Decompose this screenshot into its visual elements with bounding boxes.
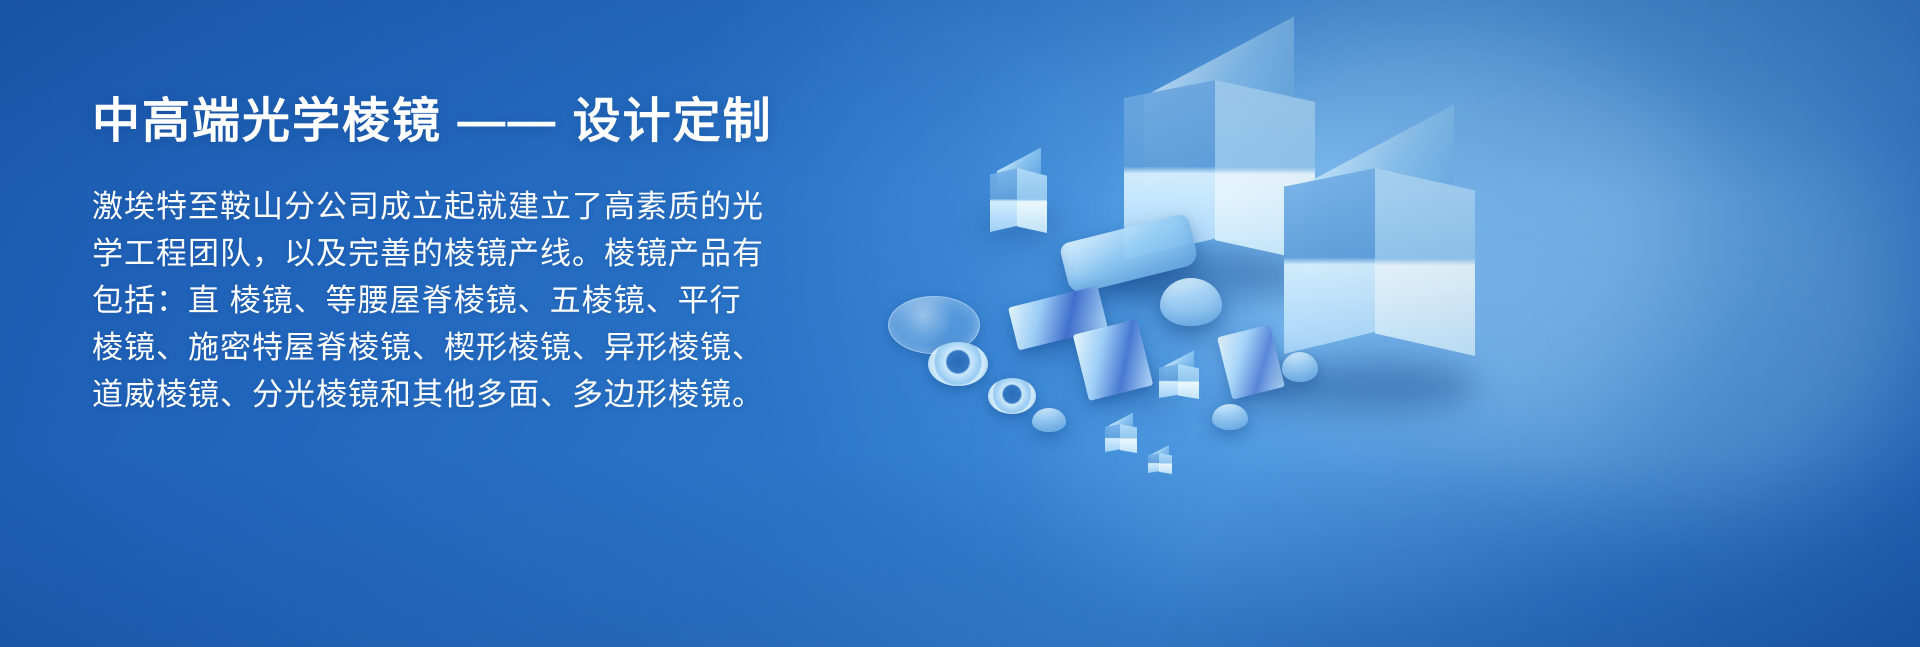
shadow-rect-prism	[978, 212, 1060, 238]
cube-left-face	[1124, 80, 1216, 260]
page-title: 中高端光学棱镜 —— 设计定制	[92, 96, 812, 149]
mini-dome-c	[1282, 352, 1318, 382]
chip-left-face	[1159, 364, 1179, 398]
shadow-slab-upper	[1012, 330, 1114, 352]
wedge-plate	[1217, 324, 1285, 399]
background-glow-bottom	[1060, 300, 1620, 600]
shadow-cube-right	[1262, 360, 1477, 412]
tiny-cube-chip	[1102, 414, 1140, 458]
background-glow-right	[1460, 140, 1920, 520]
shadow-cube-large	[1100, 248, 1315, 300]
beamsplitter-cube-large	[1108, 34, 1328, 274]
prism-top-face	[997, 148, 1041, 197]
chip-left-face	[1105, 424, 1121, 452]
chip-right-face	[1159, 453, 1172, 474]
plano-convex-lens	[888, 296, 980, 354]
dome-lens	[1160, 278, 1222, 326]
small-ring-lens	[988, 378, 1036, 414]
description-line: 道威棱镜、分光棱镜和其他多面、多边形棱镜。	[92, 371, 812, 418]
description-line: 激埃特至鞍山分公司成立起就建立了高素质的光	[92, 183, 812, 230]
prism-right-face	[1017, 168, 1047, 233]
beamsplitter-cube-right	[1268, 122, 1488, 372]
hero-text-column: 中高端光学棱镜 —— 设计定制 激埃特至鞍山分公司成立起就建立了高素质的光 学工…	[92, 96, 812, 418]
annular-ring-lens	[928, 342, 988, 386]
micro-cube-chip	[1146, 446, 1174, 478]
chip-top-face	[1109, 413, 1133, 440]
prism-left-face	[990, 168, 1018, 232]
small-cube-chip	[1156, 352, 1202, 404]
chip-left-face	[1148, 453, 1160, 473]
shadow-dome-lens	[1158, 318, 1226, 336]
cube-left-face	[1284, 168, 1376, 354]
chip-top-face	[1164, 350, 1194, 383]
chip-right-face	[1178, 364, 1199, 399]
description-line: 学工程团队，以及完善的棱镜产线。棱镜产品有	[92, 230, 812, 277]
cube-right-face	[1375, 168, 1475, 356]
cube-top-face	[1144, 17, 1294, 190]
hero-description: 激埃特至鞍山分公司成立起就建立了高素质的光 学工程团队，以及完善的棱镜产线。棱镜…	[92, 183, 812, 418]
cube-top-face	[1304, 105, 1454, 278]
shadow-wedge-plate	[1218, 386, 1298, 406]
mini-dome-a	[1032, 408, 1066, 432]
description-line: 包括：直 棱镜、等腰屋脊棱镜、五棱镜、平行	[92, 277, 812, 324]
description-line: 棱镜、施密特屋脊棱镜、楔形棱镜、异形棱镜、	[92, 324, 812, 371]
chip-right-face	[1120, 424, 1137, 453]
curved-glass-plate	[1059, 213, 1200, 295]
background-glow-left	[1180, 30, 1700, 450]
hero-banner: 中高端光学棱镜 —— 设计定制 激埃特至鞍山分公司成立起就建立了高素质的光 学工…	[0, 0, 1920, 647]
cube-right-face	[1215, 80, 1315, 262]
glass-slab-upper	[1008, 286, 1108, 351]
chip-top-face	[1151, 445, 1169, 465]
shadow-slab-lower	[1078, 378, 1178, 400]
rectangular-prism-small	[986, 152, 1052, 238]
mini-dome-b	[1212, 404, 1248, 430]
shadow-curved-plate	[1060, 268, 1190, 296]
glass-slab-lower	[1073, 319, 1153, 401]
